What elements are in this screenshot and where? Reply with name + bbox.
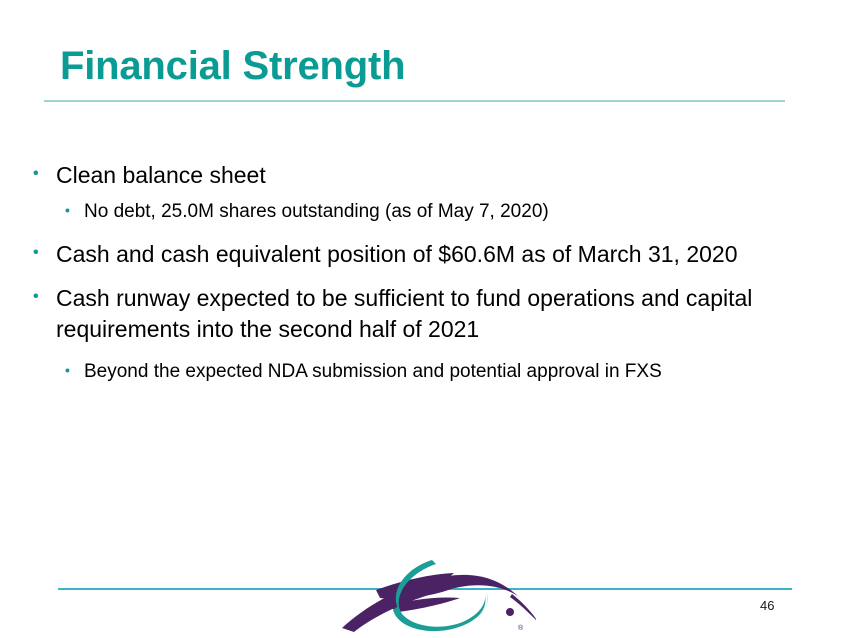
list-item: • No debt, 25.0M shares outstanding (as …: [0, 199, 850, 225]
list-item: • Cash runway expected to be sufficient …: [0, 283, 850, 345]
list-item: • Cash and cash equivalent position of $…: [0, 239, 850, 270]
list-item-label: Cash runway expected to be sufficient to…: [56, 283, 786, 345]
bullet-icon: •: [33, 289, 39, 305]
title-divider: [44, 100, 785, 102]
bullet-list: • Clean balance sheet • No debt, 25.0M s…: [0, 160, 850, 385]
list-item-label: Clean balance sheet: [56, 160, 786, 191]
list-item-label: Cash and cash equivalent position of $60…: [56, 239, 786, 270]
bullet-icon: •: [65, 363, 70, 377]
list-item: • Beyond the expected NDA submission and…: [0, 359, 850, 385]
page-title: Financial Strength: [60, 44, 405, 89]
bullet-icon: •: [65, 203, 70, 217]
bullet-icon: •: [33, 245, 39, 261]
bullet-icon: •: [33, 166, 39, 182]
list-item-label: No debt, 25.0M shares outstanding (as of…: [84, 199, 850, 225]
slide: Financial Strength • Clean balance sheet…: [0, 0, 850, 638]
svg-text:®: ®: [518, 624, 524, 632]
company-logo-icon: ®: [336, 556, 536, 638]
page-number: 46: [760, 598, 774, 613]
list-item-label: Beyond the expected NDA submission and p…: [84, 359, 850, 385]
list-item: • Clean balance sheet: [0, 160, 850, 191]
